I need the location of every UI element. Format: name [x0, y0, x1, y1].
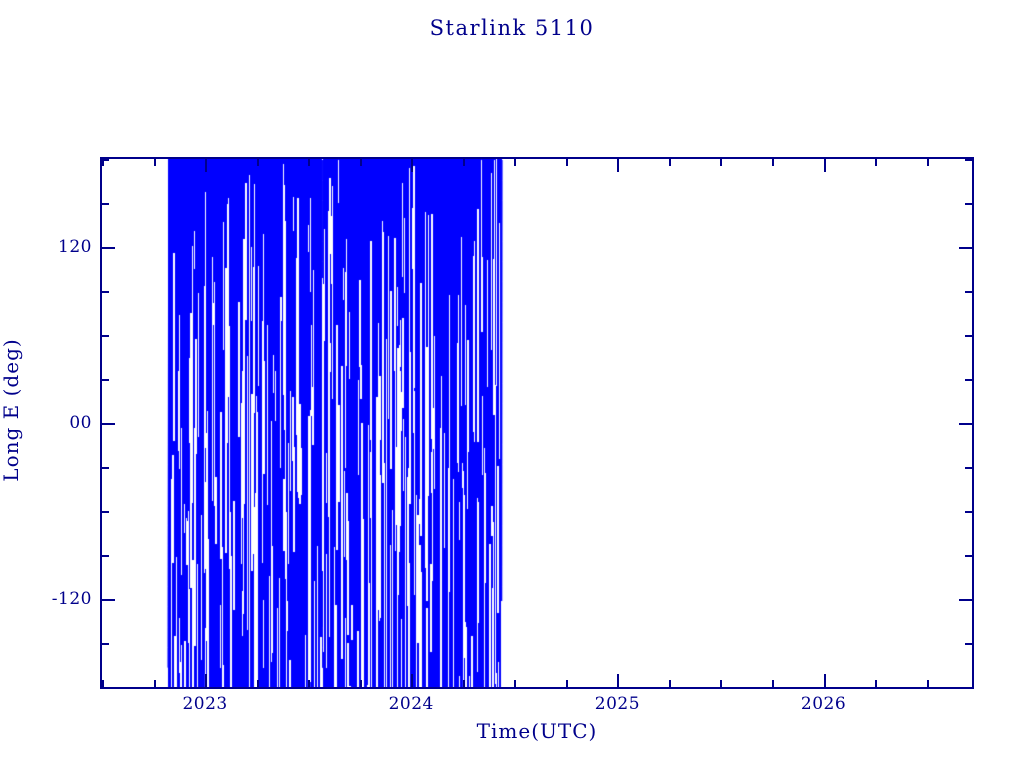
tick-mark [772, 159, 774, 166]
tick-mark [463, 159, 465, 166]
tick-mark [102, 643, 109, 645]
y-axis-title: Long E (deg) [0, 280, 23, 562]
x-tick-label: 2023 [182, 694, 227, 714]
y-tick-label: 00 [69, 413, 92, 433]
x-tick-label: 2025 [595, 694, 640, 714]
tick-mark [965, 687, 972, 689]
tick-mark [102, 423, 115, 425]
tick-mark [205, 159, 207, 172]
tick-mark [965, 379, 972, 381]
tick-mark [965, 643, 972, 645]
tick-mark [965, 335, 972, 337]
tick-mark [257, 159, 259, 166]
tick-mark [102, 599, 115, 601]
tick-mark [617, 159, 619, 172]
tick-mark [308, 159, 310, 166]
data-region [102, 159, 972, 687]
tick-mark [824, 159, 826, 172]
tick-mark [959, 423, 972, 425]
tick-mark [257, 680, 259, 687]
tick-mark [102, 467, 109, 469]
tick-mark [102, 247, 115, 249]
tick-mark [514, 680, 516, 687]
tick-mark [411, 159, 413, 172]
tick-mark [875, 159, 877, 166]
tick-mark [154, 680, 156, 687]
tick-mark [102, 511, 109, 513]
tick-mark [566, 159, 568, 166]
tick-mark [102, 379, 109, 381]
y-tick-label: -120 [52, 589, 92, 609]
tick-mark [102, 555, 109, 557]
tick-mark [965, 511, 972, 513]
x-tick-label: 2024 [389, 694, 434, 714]
tick-mark [959, 247, 972, 249]
tick-mark [102, 291, 109, 293]
tick-mark [154, 159, 156, 166]
tick-mark [669, 159, 671, 166]
tick-mark [360, 159, 362, 166]
tick-mark [514, 159, 516, 166]
tick-mark [308, 680, 310, 687]
data-series-canvas [102, 159, 972, 687]
tick-mark [965, 555, 972, 557]
plot-canvas: Starlink 5110 202320242025202612000-120 … [0, 0, 1024, 768]
tick-mark [102, 680, 104, 687]
tick-mark [566, 680, 568, 687]
tick-mark [965, 203, 972, 205]
tick-mark [463, 680, 465, 687]
tick-mark [102, 159, 109, 161]
tick-mark [824, 674, 826, 687]
tick-mark [720, 159, 722, 166]
tick-mark [102, 203, 109, 205]
tick-mark [102, 335, 109, 337]
tick-mark [360, 680, 362, 687]
y-tick-label: 120 [58, 237, 92, 257]
plot-frame [100, 157, 974, 689]
x-axis-title: Time(UTC) [100, 719, 974, 743]
tick-mark [720, 680, 722, 687]
tick-mark [959, 599, 972, 601]
tick-mark [927, 680, 929, 687]
tick-mark [411, 674, 413, 687]
tick-mark [102, 687, 109, 689]
tick-mark [772, 680, 774, 687]
tick-mark [927, 159, 929, 166]
tick-mark [965, 159, 972, 161]
tick-mark [965, 467, 972, 469]
tick-mark [875, 680, 877, 687]
page-title: Starlink 5110 [0, 16, 1024, 40]
tick-mark [965, 291, 972, 293]
x-tick-label: 2026 [801, 694, 846, 714]
tick-mark [669, 680, 671, 687]
tick-mark [205, 674, 207, 687]
tick-mark [617, 674, 619, 687]
